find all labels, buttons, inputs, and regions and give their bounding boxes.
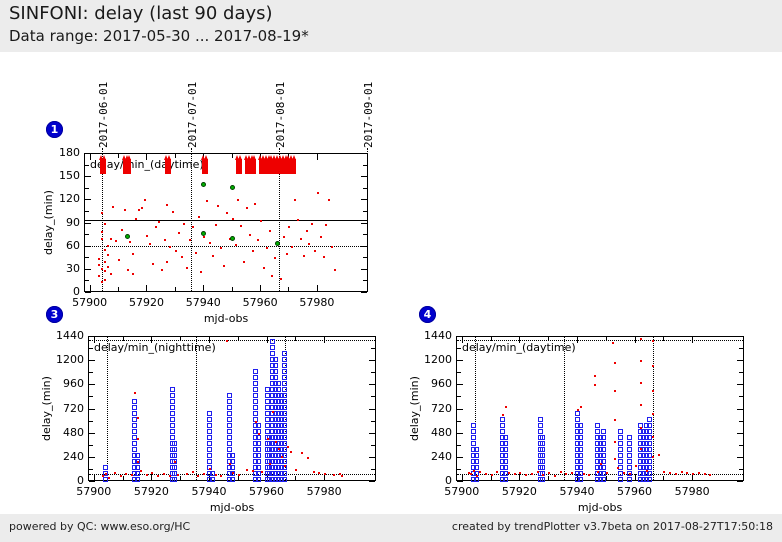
panel4-ytick-minor	[457, 348, 461, 349]
panel1-xtick-major-top	[317, 154, 318, 160]
panel4-data-point	[600, 463, 602, 465]
panel1-data-point	[166, 204, 168, 206]
panel4-data-point	[479, 471, 481, 473]
panel3-xtick-label: 57940	[181, 485, 237, 498]
panel1-reference-marker	[125, 234, 130, 239]
panel3-stack-marker	[282, 435, 287, 440]
top-date-label: 2017-06-01	[97, 82, 110, 148]
panel3-stack-marker	[273, 357, 278, 362]
panel1-data-point	[249, 234, 251, 236]
panel3-ytick-label: 480	[50, 426, 84, 439]
panel1-ytick-minor	[85, 188, 89, 189]
panel4-stack-marker	[601, 477, 606, 482]
panel3-stack-marker	[282, 369, 287, 374]
footer-created-by: created by trendPlotter v3.7beta on 2017…	[452, 520, 773, 533]
panel3-data-point	[169, 475, 171, 477]
panel1-data-point	[141, 207, 143, 209]
panel1-data-point	[195, 252, 197, 254]
panel3-ytick-minor	[89, 469, 93, 470]
panel3-ytick-label: 240	[50, 450, 84, 463]
panel1-xtick-label: 57960	[232, 296, 288, 309]
top-date-label: 2017-07-01	[186, 82, 199, 148]
panel4-stack-marker	[540, 453, 545, 458]
panel1-data-point	[288, 226, 290, 228]
panel3-stack-marker	[227, 435, 232, 440]
panel3-stack-marker	[227, 405, 232, 410]
panel4-data-point	[646, 470, 648, 472]
panel4-stack-marker	[647, 477, 652, 482]
panel4-data-point	[588, 474, 590, 476]
panel4-ytick-minor	[457, 372, 461, 373]
panel4-data-point	[704, 473, 706, 475]
panel1-data-point	[164, 239, 166, 241]
panel1-data-point	[129, 241, 131, 243]
panel3-ytick-minor	[89, 445, 93, 446]
panel3-ytick-major	[89, 384, 95, 385]
panel3-stack-marker	[282, 351, 287, 356]
panel4-stack-marker	[578, 453, 583, 458]
panel3-data-point	[102, 475, 104, 477]
panel3-data-point	[108, 477, 110, 479]
panel3-data-point	[197, 475, 199, 477]
panel3-ytick-minor	[89, 396, 93, 397]
panel4-stack-marker	[503, 465, 508, 470]
panel3-data-point	[307, 457, 309, 459]
panel1-data-point	[132, 273, 134, 275]
panel3-stack-marker	[227, 429, 232, 434]
panel3-data-point	[255, 421, 257, 423]
panel1-data-point	[181, 256, 183, 258]
panel4-stack-marker	[595, 429, 600, 434]
panel3-stack-marker	[207, 435, 212, 440]
panel3-stack-marker	[132, 447, 137, 452]
panel4-stack-marker	[618, 429, 623, 434]
panel4-data-point	[640, 404, 642, 406]
panel3-stack-marker	[282, 471, 287, 476]
panel3-stack-marker	[132, 441, 137, 446]
panel4-stack-marker	[503, 459, 508, 464]
panel4-stack-marker	[540, 441, 545, 446]
panel4-stack-marker	[578, 423, 583, 428]
arrow-shaft	[293, 159, 296, 174]
panel1-data-point	[246, 207, 248, 209]
panel3-data-point	[105, 473, 107, 475]
panel1-data-point	[257, 239, 259, 241]
panel1-data-point	[320, 236, 322, 238]
panel1-data-point	[115, 240, 117, 242]
panel1-xtick-minor	[288, 287, 289, 291]
panel3-ytick-major	[89, 457, 95, 458]
panel3-data-point	[177, 474, 179, 476]
panel1-data-point	[209, 242, 211, 244]
panel1-data-point	[132, 253, 134, 255]
panel3-data-point	[284, 465, 286, 467]
panel3-stack-marker	[282, 423, 287, 428]
panel3-stack-marker	[230, 465, 235, 470]
panel1-ytick-major	[85, 199, 91, 200]
panel4-stack-marker	[503, 435, 508, 440]
panel3-data-point	[137, 461, 139, 463]
panel4-xaxis-label: mjd-obs	[560, 501, 640, 514]
panel1-data-point	[172, 211, 174, 213]
panel1-overflow-arrow	[102, 155, 107, 174]
panel1-data-point	[252, 250, 254, 252]
panel1-data-point	[189, 239, 191, 241]
panel3-ytick-major	[89, 481, 95, 482]
panel1-data-point	[104, 279, 106, 281]
panel3-data-point	[134, 392, 136, 394]
panel4-data-point	[606, 472, 608, 474]
panel4-data-point	[617, 467, 619, 469]
panel3-data-point	[333, 474, 335, 476]
panel3-data-point	[278, 448, 280, 450]
panel1-data-point	[220, 247, 222, 249]
panel4-stack-marker	[618, 447, 623, 452]
panel3-stack-marker	[170, 411, 175, 416]
panel3-data-point	[246, 469, 248, 471]
panel1-data-point	[107, 266, 109, 268]
panel3-data-point	[157, 475, 159, 477]
panel4-stack-marker	[503, 453, 508, 458]
panel-badge-3[interactable]: 3	[46, 306, 63, 323]
panel1-data-point	[200, 271, 202, 273]
panel4-stack-marker	[540, 465, 545, 470]
panel1-reference-marker	[230, 236, 235, 241]
panel3-ytick-label: 1440	[50, 329, 84, 342]
panel-badge-1[interactable]: 1	[46, 121, 63, 138]
panel3-data-point	[324, 473, 326, 475]
panel4-data-point	[571, 472, 573, 474]
panel4-stack-marker	[618, 453, 623, 458]
panel1-data-point	[291, 246, 293, 248]
panel3-stack-marker	[170, 435, 175, 440]
panel4-stack-marker	[618, 441, 623, 446]
panel4-xtick-minor	[491, 476, 492, 480]
panel4-stack-marker	[601, 447, 606, 452]
panel4-data-point	[594, 375, 596, 377]
panel4-month-gridline	[564, 337, 565, 480]
panel4-xtick-label: 57980	[664, 485, 720, 498]
panel4-data-point	[640, 360, 642, 362]
panel4-data-point	[565, 473, 567, 475]
panel1-overflow-arrow	[127, 155, 132, 174]
panel1-overflow-arrow	[292, 155, 297, 174]
panel4-stack-marker	[647, 447, 652, 452]
panel1-data-point	[98, 275, 100, 277]
panel3-data-point	[125, 473, 127, 475]
panel4-stack-marker	[627, 459, 632, 464]
panel3-stack-marker	[227, 441, 232, 446]
panel4-ytick-minor	[457, 469, 461, 470]
panel3-stack-marker	[282, 411, 287, 416]
panel1-data-point	[169, 246, 171, 248]
panel1-ytick-major	[85, 176, 91, 177]
panel1-data-point	[192, 226, 194, 228]
panel4-stack-marker	[601, 429, 606, 434]
panel3-stack-marker	[256, 465, 261, 470]
panel4-stack-marker	[601, 465, 606, 470]
panel4-data-point	[505, 406, 507, 408]
panel4-stack-marker	[500, 423, 505, 428]
panel1-data-point	[260, 220, 262, 222]
panel3-stack-marker	[227, 399, 232, 404]
panel4-ytick-major	[457, 384, 463, 385]
panel1-xtick-major	[317, 285, 318, 291]
panel1-data-point	[266, 247, 268, 249]
panel1-month-gridline	[191, 154, 192, 291]
panel3-ytick-minor	[89, 372, 93, 373]
panel1-ytick-label: 180	[52, 146, 80, 159]
panel3-stack-marker	[210, 477, 215, 482]
panel1-data-point	[178, 232, 180, 234]
panel1-xtick-minor	[232, 287, 233, 291]
panel3-ytick-label: 960	[50, 377, 84, 390]
panel3-ytick-major	[89, 433, 95, 434]
panel1-xtick-minor-top	[232, 154, 233, 158]
panel3-stack-marker	[253, 375, 258, 380]
panel1-reference-line-solid	[85, 220, 367, 221]
panel4-data-point	[629, 473, 631, 475]
panel1-data-point	[306, 230, 308, 232]
panel3-data-point	[140, 470, 142, 472]
panel3-stack-marker	[273, 369, 278, 374]
page-title: SINFONI: delay (last 90 days)	[9, 3, 273, 24]
panel1-data-point	[280, 278, 282, 280]
panel1-data-point	[303, 255, 305, 257]
panel1-data-point	[101, 281, 103, 283]
panel1-data-point	[314, 250, 316, 252]
panel3-data-point	[252, 470, 254, 472]
panel3-ytick-label: 1200	[50, 353, 84, 366]
panel1-xtick-major	[90, 285, 91, 291]
top-date-label: 2017-09-01	[362, 82, 375, 148]
panel3-stack-marker	[170, 387, 175, 392]
panel3-stack-marker	[282, 381, 287, 386]
footer-powered-by: powered by QC: www.eso.org/HC	[9, 520, 190, 533]
panel1-data-point	[300, 238, 302, 240]
panel4-data-point	[681, 471, 683, 473]
panel3-stack-marker	[132, 405, 137, 410]
panel4-data-point	[485, 473, 487, 475]
panel3-stack-marker	[172, 441, 177, 446]
panel3-data-point	[238, 474, 240, 476]
panel3-stack-marker	[103, 465, 108, 470]
panel3-stack-marker	[273, 363, 278, 368]
panel3-ytick-minor	[89, 421, 93, 422]
panel3-series-label: delay/min_(nighttime)	[94, 341, 216, 354]
panel4-stack-marker	[474, 447, 479, 452]
panel4-stack-marker	[601, 453, 606, 458]
panel1-ytick-label: 30	[52, 262, 80, 275]
panel4-data-point	[531, 473, 533, 475]
panel3-stack-marker	[230, 453, 235, 458]
panel4-data-point	[537, 471, 539, 473]
panel4-stack-marker	[627, 447, 632, 452]
panel4-xtick-label: 57960	[607, 485, 663, 498]
panel3-xaxis-label: mjd-obs	[192, 501, 272, 514]
panel4-yaxis-label: delay_(min)	[408, 376, 421, 441]
panel1-xtick-major	[203, 285, 204, 291]
panel3-stack-marker	[172, 453, 177, 458]
panel3-stack-marker	[273, 375, 278, 380]
panel4-ytick-major	[457, 481, 463, 482]
panel3-stack-marker	[207, 453, 212, 458]
panel1-ytick-label: 60	[52, 239, 80, 252]
panel3-data-point	[174, 461, 176, 463]
panel4-data-point	[614, 441, 616, 443]
panel3-xtick-label: 57960	[239, 485, 295, 498]
panel3-stack-marker	[282, 375, 287, 380]
panel1-data-point	[226, 212, 228, 214]
panel4-data-point	[614, 362, 616, 364]
panel1-data-point	[152, 263, 154, 265]
panel4-ytick-minor	[457, 396, 461, 397]
panel1-data-point	[146, 235, 148, 237]
panel4-data-point	[470, 473, 472, 475]
panel1-data-point	[107, 245, 109, 247]
panel4-data-point	[640, 448, 642, 450]
panel4-stack-marker	[578, 459, 583, 464]
panel3-data-point	[120, 475, 122, 477]
panel3-xtick-label: 57900	[66, 485, 122, 498]
panel3-stack-marker	[282, 417, 287, 422]
panel3-stack-marker	[256, 453, 261, 458]
panel3-stack-marker	[270, 345, 275, 350]
panel3-stack-marker	[256, 447, 261, 452]
panel3-stack-marker	[253, 411, 258, 416]
panel1-data-point	[101, 231, 103, 233]
panel4-data-point	[652, 413, 654, 415]
panel1-reference-marker	[201, 182, 206, 187]
panel4-data-point	[652, 365, 654, 367]
panel1-xaxis-label: mjd-obs	[186, 312, 266, 325]
panel3-data-point	[313, 471, 315, 473]
panel3-stack-marker	[282, 363, 287, 368]
panel3-month-gridline	[196, 337, 197, 480]
panel3-data-point	[146, 474, 148, 476]
panel1-ytick-minor	[85, 280, 89, 281]
panel4-data-point	[669, 472, 671, 474]
panel3-stack-marker	[135, 477, 140, 482]
panel1-data-point	[166, 261, 168, 263]
panel3-stack-marker	[172, 447, 177, 452]
panel4-data-point	[525, 474, 527, 476]
panel3-stack-marker	[132, 423, 137, 428]
panel3-data-point	[229, 463, 231, 465]
panel1-data-point	[112, 206, 114, 208]
panel4-stack-marker	[471, 423, 476, 428]
panel4-data-point	[473, 470, 475, 472]
panel3-stack-marker	[207, 423, 212, 428]
panel4-data-point	[594, 384, 596, 386]
panel4-stack-marker	[474, 459, 479, 464]
panel4-stack-marker	[471, 429, 476, 434]
panel1-month-gridline	[102, 154, 103, 291]
panel1-data-point	[263, 267, 265, 269]
panel3-stack-marker	[270, 339, 275, 344]
panel4-stack-marker	[538, 423, 543, 428]
panel3-stack-marker	[282, 357, 287, 362]
panel3-data-point	[258, 433, 260, 435]
panel4-stack-marker	[500, 417, 505, 422]
panel4-stack-marker	[618, 459, 623, 464]
panel4-data-point	[577, 409, 579, 411]
panel3-xtick-minor	[123, 476, 124, 480]
panel4-stack-marker	[500, 429, 505, 434]
panel3-reference-line-dotted	[89, 340, 375, 341]
panel3-data-point	[295, 469, 297, 471]
panel4-data-point	[519, 472, 521, 474]
panel1-reference-marker	[230, 185, 235, 190]
panel4-stack-marker	[578, 477, 583, 482]
panel1-data-point	[198, 216, 200, 218]
panel4-data-point	[502, 414, 504, 416]
panel-badge-4[interactable]: 4	[419, 306, 436, 323]
panel1-xtick-label: 57920	[118, 296, 174, 309]
panel1-data-point	[308, 243, 310, 245]
panel4-stack-marker	[627, 465, 632, 470]
panel4-data-point	[686, 472, 688, 474]
panel1-ytick-minor	[85, 234, 89, 235]
panel3-ytick-minor	[89, 348, 93, 349]
panel1-xtick-label: 57940	[175, 296, 231, 309]
panel4-data-point	[560, 471, 562, 473]
panel1-data-point	[121, 229, 123, 231]
panel4-stack-marker	[618, 477, 623, 482]
panel3-data-point	[186, 473, 188, 475]
panel4-xtick-label: 57900	[434, 485, 490, 498]
panel3-ytick-major	[89, 409, 95, 410]
panel4-stack-marker	[540, 459, 545, 464]
panel1-data-point	[110, 238, 112, 240]
panel3-xtick-label: 57980	[296, 485, 352, 498]
panel4-stack-marker	[647, 429, 652, 434]
panel3-stack-marker	[132, 411, 137, 416]
arrow-shaft	[103, 159, 106, 174]
panel4-stack-marker	[627, 441, 632, 446]
panel1-data-point	[331, 246, 333, 248]
panel1-data-point	[311, 223, 313, 225]
panel3-month-gridline	[375, 337, 376, 480]
panel1-data-point	[325, 224, 327, 226]
panel1-data-point	[294, 199, 296, 201]
panel4-data-point	[580, 406, 582, 408]
panel4-data-point	[597, 471, 599, 473]
panel3-month-gridline	[107, 337, 108, 480]
panel1-data-point	[183, 223, 185, 225]
panel3-data-point	[226, 340, 228, 342]
panel1-yaxis-label: delay_(min)	[42, 190, 55, 255]
panel3-stack-marker	[282, 387, 287, 392]
panel4-reference-line-dotted	[457, 340, 743, 341]
panel4-data-point	[652, 436, 654, 438]
panel3-stack-marker	[256, 423, 261, 428]
panel3-stack-marker	[132, 429, 137, 434]
panel1-data-point	[175, 250, 177, 252]
panel4-ytick-label: 720	[418, 402, 452, 415]
panel3-data-point	[137, 438, 139, 440]
panel4-stack-marker	[627, 435, 632, 440]
panel1-data-point	[237, 199, 239, 201]
panel1-ytick-label: 150	[52, 169, 80, 182]
panel3-data-point	[290, 451, 292, 453]
panel1-data-point	[297, 219, 299, 221]
panel4-ytick-label: 480	[418, 426, 452, 439]
panel3-stack-marker	[227, 423, 232, 428]
panel1-data-point	[104, 270, 106, 272]
page-footer: powered by QC: www.eso.org/HC created by…	[0, 514, 782, 542]
panel4-stack-marker	[540, 447, 545, 452]
